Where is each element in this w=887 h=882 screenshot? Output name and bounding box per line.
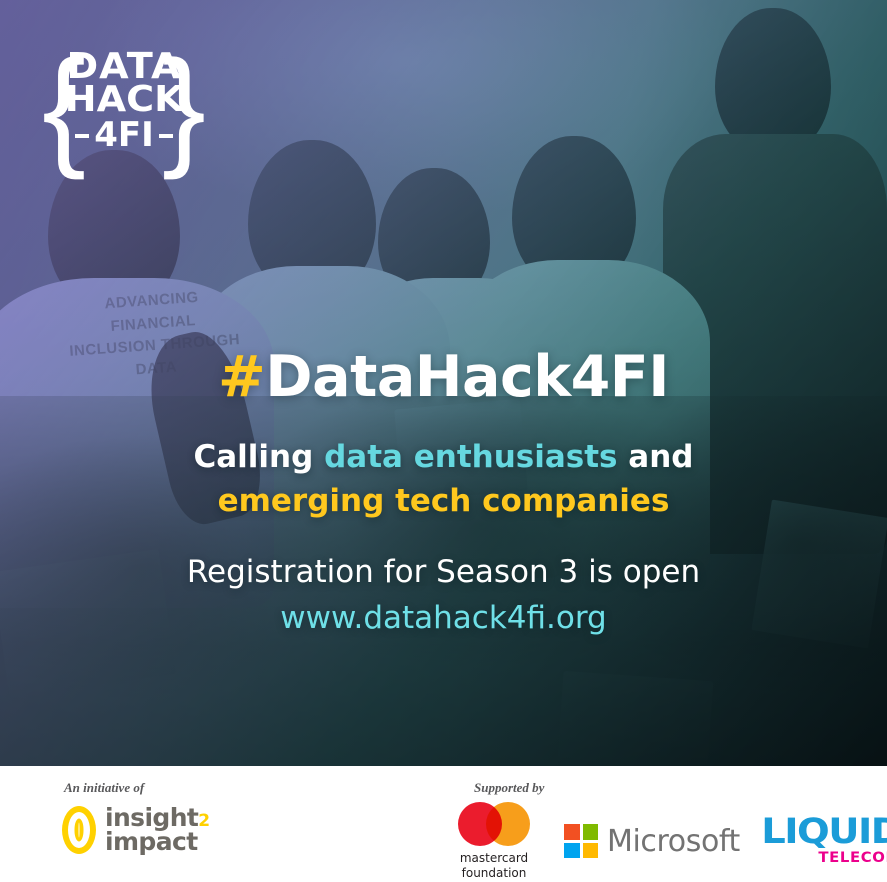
partner-logos: mastercardfoundation Microsoft LIQUID TE… [458, 802, 887, 880]
microsoft-red-square [564, 824, 580, 840]
supported-by-label: Supported by [474, 780, 544, 796]
logo-line-4fi: 4FI [94, 120, 154, 151]
tagline-part-2: and [618, 439, 694, 475]
footer-bar: An initiative of insight2impact Supporte… [0, 766, 887, 882]
mastercard-circles-icon [458, 802, 530, 846]
telecom-wordmark: TELECOM [819, 851, 887, 865]
microsoft-green-square [583, 824, 599, 840]
mastercard-line-2: foundation [462, 866, 527, 880]
insight2impact-superscript: 2 [198, 811, 209, 831]
registration-url-link[interactable]: www.datahack4fi.org [70, 599, 817, 639]
microsoft-squares-icon [564, 824, 598, 858]
liquid-telecom-logo[interactable]: LIQUID TELECOM [774, 817, 887, 866]
microsoft-blue-square [564, 843, 580, 859]
insight2impact-word-impact: impact [105, 827, 198, 856]
tagline-highlight-data-enthusiasts: data enthusiasts [324, 439, 617, 475]
logo-dash-right [159, 134, 173, 138]
microsoft-wordmark: Microsoft [607, 824, 740, 859]
mastercard-orange-circle [486, 802, 530, 846]
logo-dash-left [75, 134, 89, 138]
hashtag-symbol: # [218, 344, 265, 410]
copy-block: #DataHack4FI Calling data enthusiasts an… [0, 348, 887, 639]
tagline-highlight-emerging-tech: emerging tech companies [218, 483, 670, 519]
logo-wordmark: DATA HACK 4FI [68, 50, 180, 151]
tagline: Calling data enthusiasts and emerging te… [70, 435, 817, 523]
logo-line-hack: HACK [65, 83, 184, 116]
registration-text: Registration for Season 3 is open [187, 554, 700, 590]
promotional-poster: ADVANCING FINANCIAL INCLUSION THROUGH DA… [0, 0, 887, 882]
mastercard-line-1: mastercard [460, 851, 528, 865]
registration-notice: Registration for Season 3 is open www.da… [70, 553, 817, 638]
mastercard-foundation-logo[interactable]: mastercardfoundation [458, 802, 530, 880]
insight2impact-ring-icon [62, 806, 96, 854]
hashtag-text: DataHack4FI [265, 344, 669, 410]
insight2impact-wordmark: insight2impact [105, 806, 210, 854]
initiative-block: An initiative of insight2impact [62, 780, 210, 854]
logo-line-4fi-row: 4FI [68, 120, 180, 151]
insight2impact-logo[interactable]: insight2impact [62, 806, 210, 854]
initiative-label: An initiative of [64, 780, 210, 796]
microsoft-logo[interactable]: Microsoft [564, 824, 740, 859]
tagline-part-1: Calling [193, 439, 324, 475]
supported-by-block: Supported by [472, 780, 544, 796]
datahack4fi-logo: { } DATA HACK 4FI [42, 34, 206, 182]
liquid-wordmark: LIQUID [761, 817, 887, 849]
mastercard-foundation-wordmark: mastercardfoundation [460, 851, 528, 880]
page-title: #DataHack4FI [70, 348, 817, 407]
microsoft-yellow-square [583, 843, 599, 859]
